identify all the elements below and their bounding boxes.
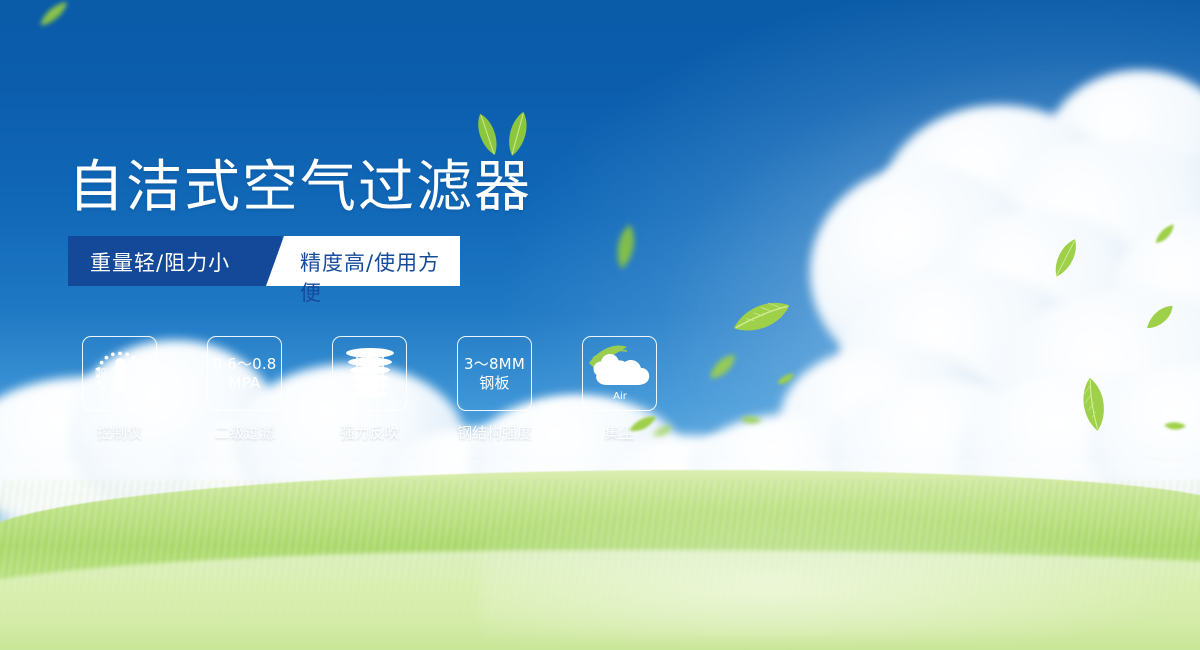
feature-icon-box: Air (582, 336, 657, 411)
feature-label: 强力反吹 (339, 422, 399, 443)
filter-cartridge-icon (343, 345, 397, 403)
grass-highlight (480, 510, 1200, 640)
page-title: 自洁式空气过滤器 (68, 142, 532, 223)
control-dial-icon: NO OFF (89, 343, 151, 405)
subtitle-bar: 重量轻/阻力小 精度高/使用方便 (68, 236, 460, 286)
feature-icon-box (332, 336, 407, 411)
feature-label: 二级过滤 (214, 422, 274, 443)
subtitle-left-text: 重量轻/阻力小 (90, 247, 230, 277)
air-label: Air (613, 391, 628, 402)
pressure-line-1: 0.6～0.8 (212, 355, 276, 373)
feature-icon-box: 0.6～0.8 MPA (207, 336, 282, 411)
feature-icon-box: 3～8MM 钢板 (457, 336, 532, 411)
product-banner: 自洁式空气过滤器 重量轻/阻力小 精度高/使用方便 (0, 0, 1200, 650)
feature-item-steel: 3～8MM 钢板 钢结构强度 (457, 336, 532, 443)
feature-label: 控制仪 (97, 422, 142, 443)
feature-item-blowback: 强力反吹 (332, 336, 407, 443)
steel-line-1: 3～8MM (464, 355, 525, 373)
feature-item-pressure: 0.6～0.8 MPA 二级过滤 (207, 336, 282, 443)
dial-off-label: OFF (128, 390, 142, 398)
air-cloud-icon: Air (587, 343, 653, 405)
dial-on-label: NO (95, 367, 107, 376)
pressure-line-2: MPA (212, 374, 276, 392)
steel-plate-text-icon: 3～8MM 钢板 (464, 355, 525, 392)
feature-label: 钢结构强度 (457, 422, 532, 443)
pressure-text-icon: 0.6～0.8 MPA (212, 355, 276, 392)
subtitle-right-text: 精度高/使用方便 (300, 247, 460, 307)
feature-list: NO OFF 控制仪 0.6～0.8 MPA 二级过滤 (82, 336, 657, 443)
steel-line-2: 钢板 (464, 374, 525, 392)
feature-item-control: NO OFF 控制仪 (82, 336, 157, 443)
feature-icon-box: NO OFF (82, 336, 157, 411)
